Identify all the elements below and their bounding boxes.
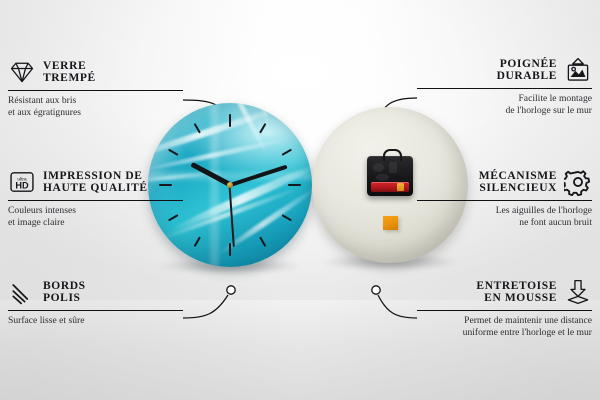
- connector-node-bords-polis: [227, 286, 235, 294]
- feature-description: Facilite le montage de l'horloge sur le …: [417, 93, 592, 116]
- second-hand: [229, 185, 235, 247]
- feature-title: BORDS POLIS: [43, 280, 86, 305]
- feature-header: BORDS POLIS: [8, 278, 183, 306]
- ultra-hd-icon: ultra HD: [8, 168, 36, 196]
- feature-impression-haute-qualite: ultra HD IMPRESSION DE HAUTE QUALITÉ Cou…: [8, 168, 183, 228]
- feature-header: VERRE TREMPÉ: [8, 58, 183, 86]
- minute-hand: [229, 165, 287, 187]
- feature-verre-trempe: VERRE TREMPÉ Résistant aux bris et aux é…: [8, 58, 183, 118]
- feature-rule: [8, 310, 183, 311]
- feature-bords-polis: BORDS POLIS Surface lisse et sûre: [8, 278, 183, 327]
- hanging-frame-icon: [564, 56, 592, 84]
- feature-title: POIGNÉE DURABLE: [497, 58, 557, 83]
- mechanism-detail: [373, 163, 384, 172]
- feature-description: Surface lisse et sûre: [8, 315, 183, 326]
- feature-title: ENTRETOISE EN MOUSSE: [476, 280, 557, 305]
- feature-rule: [417, 88, 592, 89]
- feature-description: Les aiguilles de l'horloge ne font aucun…: [417, 205, 592, 228]
- connector-entretoise: [378, 295, 417, 318]
- feature-description: Couleurs intenses et image claire: [8, 205, 183, 228]
- feature-entretoise-en-mousse: ENTRETOISE EN MOUSSE Permet de maintenir…: [417, 278, 592, 338]
- feature-title: MÉCANISME SILENCIEUX: [479, 170, 557, 195]
- connector-bords-polis: [183, 295, 228, 318]
- feature-title: VERRE TREMPÉ: [43, 60, 96, 85]
- gear-icon: [564, 168, 592, 196]
- feature-description: Résistant aux bris et aux égratignures: [8, 95, 183, 118]
- feature-rule: [417, 200, 592, 201]
- feature-rule: [8, 200, 183, 201]
- feature-header: ultra HD IMPRESSION DE HAUTE QUALITÉ: [8, 168, 183, 196]
- quartz-mechanism: [367, 156, 413, 196]
- polished-edges-icon: [8, 278, 36, 306]
- feature-title: IMPRESSION DE HAUTE QUALITÉ: [43, 170, 148, 195]
- feature-description: Permet de maintenir une distance uniform…: [417, 315, 592, 338]
- svg-text:HD: HD: [15, 181, 29, 191]
- mechanism-detail: [376, 174, 389, 181]
- feature-rule: [8, 90, 183, 91]
- feature-header: MÉCANISME SILENCIEUX: [417, 168, 592, 196]
- feature-header: ENTRETOISE EN MOUSSE: [417, 278, 592, 306]
- feature-mecanisme-silencieux: MÉCANISME SILENCIEUX Les aiguilles de l'…: [417, 168, 592, 228]
- infographic-canvas: VERRE TREMPÉ Résistant aux bris et aux é…: [0, 0, 600, 400]
- hour-hand: [190, 162, 231, 187]
- hanging-loop: [383, 149, 402, 161]
- feature-poignee-durable: POIGNÉE DURABLE Facilite le montage de l…: [417, 56, 592, 116]
- foam-spacer-icon: [564, 278, 592, 306]
- diamond-icon: [8, 58, 36, 86]
- feature-header: POIGNÉE DURABLE: [417, 56, 592, 84]
- foam-spacer: [383, 216, 398, 230]
- connector-node-entretoise: [372, 286, 380, 294]
- feature-rule: [417, 310, 592, 311]
- mechanism-detail: [389, 162, 397, 173]
- center-pin: [227, 182, 233, 188]
- battery: [371, 182, 409, 192]
